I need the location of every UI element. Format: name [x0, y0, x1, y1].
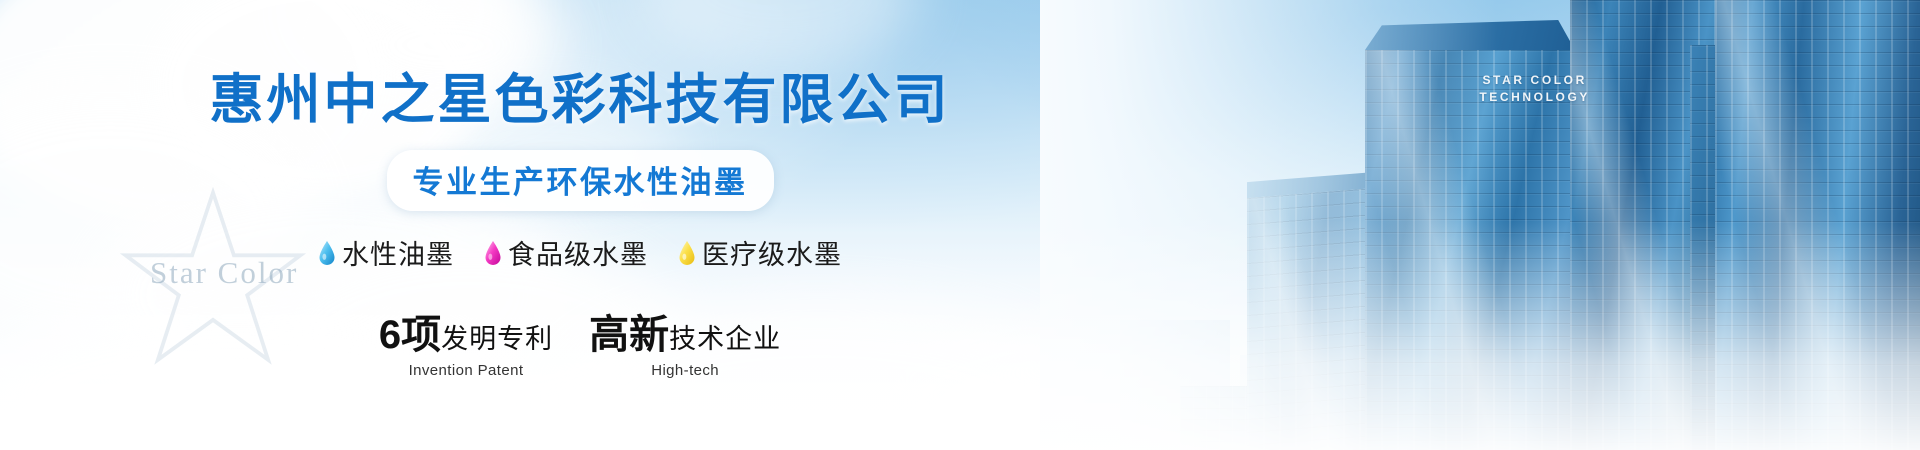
- badge-number: 6项: [379, 302, 441, 360]
- badge-label: 技术企业: [669, 317, 781, 356]
- water-drop-icon: [318, 240, 336, 266]
- feature-item: 医疗级水墨: [678, 233, 842, 272]
- subtitle-pill: 专业生产环保水性油墨: [387, 150, 774, 211]
- badge-high-tech: 高新 技术企业 High-tech: [589, 302, 781, 379]
- feature-label: 医疗级水墨: [702, 233, 842, 272]
- badge-number: 高新: [589, 302, 669, 360]
- badge-label: 发明专利: [441, 317, 553, 356]
- badge-english: Invention Patent: [379, 362, 553, 379]
- feature-list: 水性油墨: [318, 233, 842, 272]
- badge-invention-patent: 6项 发明专利 Invention Patent: [379, 302, 553, 379]
- feature-item: 水性油墨: [318, 233, 454, 272]
- water-drop-icon: [484, 240, 502, 266]
- subtitle-text: 专业生产环保水性油墨: [413, 157, 748, 202]
- watermark-line-2: TECHNOLOGY: [1479, 89, 1590, 106]
- feature-item: 食品级水墨: [484, 233, 648, 272]
- promo-banner: Star Color STAR COLOR TECHNOLOGY 惠州中之星色彩…: [0, 0, 1920, 450]
- feature-label: 水性油墨: [342, 233, 454, 272]
- banner-content: 惠州中之星色彩科技有限公司 专业生产环保水性油墨: [0, 0, 1160, 450]
- star-color-technology-watermark: STAR COLOR TECHNOLOGY: [1479, 72, 1590, 107]
- credential-badges: 6项 发明专利 Invention Patent 高新 技术企业 High-te…: [379, 302, 781, 379]
- badge-english: High-tech: [589, 362, 781, 379]
- water-drop-icon: [678, 240, 696, 266]
- watermark-line-1: STAR COLOR: [1479, 72, 1590, 89]
- company-title: 惠州中之星色彩科技有限公司: [210, 55, 951, 134]
- feature-label: 食品级水墨: [508, 233, 648, 272]
